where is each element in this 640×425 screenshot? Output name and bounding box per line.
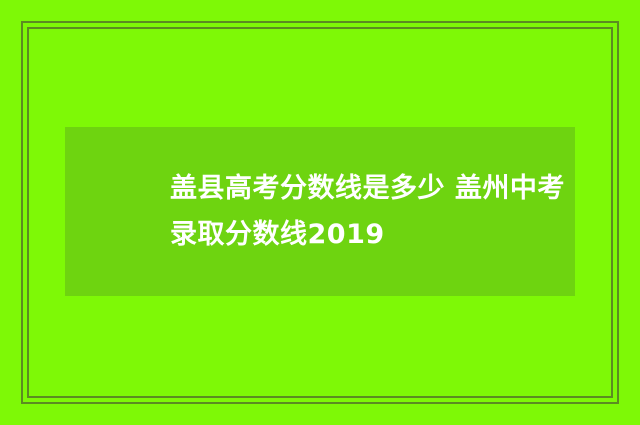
headline-text: 盖县高考分数线是多少 盖州中考录取分数线2019 [65,166,575,258]
content-panel: 盖县高考分数线是多少 盖州中考录取分数线2019 [65,127,575,296]
banner-root: 盖县高考分数线是多少 盖州中考录取分数线2019 [0,0,640,425]
